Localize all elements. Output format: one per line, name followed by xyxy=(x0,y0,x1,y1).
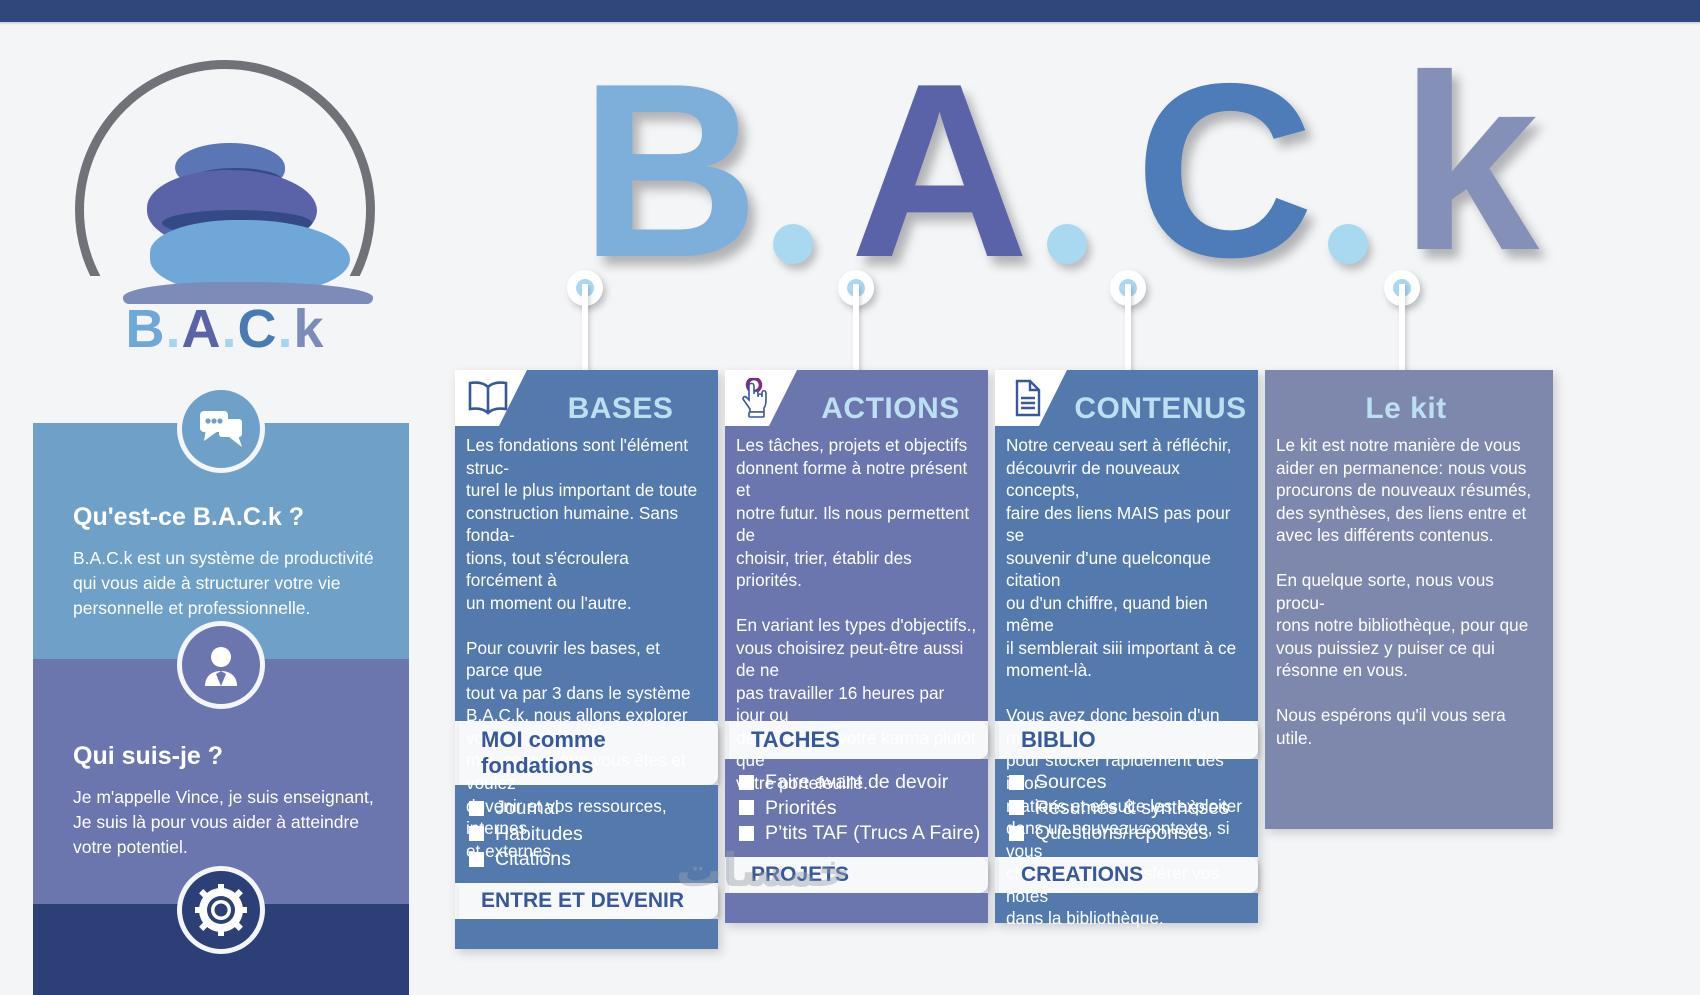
logo-letter-b: B xyxy=(125,299,165,359)
logo-dot-2: . xyxy=(221,299,237,359)
list-item[interactable]: Priorités xyxy=(739,796,988,821)
left-sidebar: B.A.C.k Qu'est-ce B.A.C.k ? B.A.C.k est … xyxy=(0,25,452,970)
list-item[interactable]: Sources xyxy=(1009,770,1258,795)
sidebar-card-settings xyxy=(33,904,409,995)
logo-letter-a: A xyxy=(181,299,221,359)
logo-dot-3: . xyxy=(277,299,293,359)
hero-letter-b: B xyxy=(580,46,759,294)
hero-dot-2 xyxy=(1047,224,1087,264)
column-header-actions: ACTIONS xyxy=(725,370,988,426)
checkbox-icon[interactable] xyxy=(469,826,484,841)
column-header-bases: BASES xyxy=(455,370,718,426)
column-actions-footer xyxy=(725,893,988,923)
watermark: خمسات xyxy=(676,843,850,897)
logo-dot-1: . xyxy=(165,299,181,359)
list-item[interactable]: P’tits TAF (Trucs A Faire) xyxy=(739,821,988,846)
column-title-kit: Le kit xyxy=(1265,370,1547,430)
column-body-bases: Les fondations sont l'élément struc- tur… xyxy=(455,426,718,721)
hero-wordmark: B A C k xyxy=(560,28,1560,278)
column-title-contenus: CONTENUS xyxy=(1069,370,1252,430)
gear-icon xyxy=(177,866,265,954)
list-item-label: Questions/réponses xyxy=(1035,821,1208,846)
column-header-contenus: CONTENUS xyxy=(995,370,1258,426)
logo-letter-k: k xyxy=(294,299,325,359)
list-item-label: Habitudes xyxy=(495,822,583,847)
column-contenus[interactable]: CONTENUS Notre cerveau sert à réfléchir,… xyxy=(995,370,1258,923)
logo-letter-c: C xyxy=(237,299,277,359)
document-icon xyxy=(1007,378,1049,418)
list-item-label: Sources xyxy=(1035,770,1107,795)
list-item[interactable]: Résumés & synthèses xyxy=(1009,796,1258,821)
brand-logo: B.A.C.k xyxy=(65,60,385,360)
hero-letter-k: k xyxy=(1400,38,1539,288)
top-accent-bar xyxy=(0,0,1700,22)
column-body-actions: Les tâches, projets et objectifs donnent… xyxy=(725,426,988,721)
list-item[interactable]: Faire avant de devoir xyxy=(739,770,988,795)
column-bases-footer xyxy=(455,919,718,949)
checkbox-icon[interactable] xyxy=(739,800,754,815)
column-title-bases: BASES xyxy=(529,370,712,430)
list-item-label: Faire avant de devoir xyxy=(765,770,948,795)
checkbox-icon[interactable] xyxy=(739,826,754,841)
column-body-kit: Le kit est notre manière de vous aider e… xyxy=(1265,426,1553,829)
column-title-actions: ACTIONS xyxy=(799,370,982,430)
checkbox-icon[interactable] xyxy=(1009,775,1024,790)
list-item-label: Résumés & synthèses xyxy=(1035,796,1229,821)
hero-dot-1 xyxy=(773,224,813,264)
column-kit[interactable]: Le kit Le kit est notre manière de vous … xyxy=(1265,370,1553,829)
hero-letter-a: A xyxy=(850,46,1029,294)
checkbox-icon[interactable] xyxy=(739,775,754,790)
checklist-contenus-1: Sources Résumés & synthèses Questions/ré… xyxy=(995,759,1258,857)
list-item-label: Priorités xyxy=(765,796,837,821)
hero-letter-c: C xyxy=(1135,46,1314,294)
sidebar-body-1: B.A.C.k est un système de productivité q… xyxy=(73,546,383,621)
column-header-kit: Le kit xyxy=(1265,370,1553,426)
hero-dot-3 xyxy=(1328,224,1368,264)
checkbox-icon[interactable] xyxy=(469,852,484,867)
list-item-label: Journal xyxy=(495,796,559,821)
logo-wordmark: B.A.C.k xyxy=(65,298,385,360)
list-item-label: P’tits TAF (Trucs A Faire) xyxy=(765,821,980,846)
checkbox-icon[interactable] xyxy=(1009,826,1024,841)
pointing-hand-icon xyxy=(737,378,779,418)
chat-bubbles-icon xyxy=(177,385,265,473)
checkbox-icon[interactable] xyxy=(1009,800,1024,815)
open-book-icon xyxy=(467,378,509,418)
person-icon xyxy=(177,621,265,709)
column-actions[interactable]: ACTIONS Les tâches, projets et objectifs… xyxy=(725,370,988,923)
sidebar-heading-2: Qui suis-je ? xyxy=(73,742,223,771)
column-body-contenus: Notre cerveau sert à réfléchir, découvri… xyxy=(995,426,1258,721)
sidebar-heading-1: Qu'est-ce B.A.C.k ? xyxy=(73,503,304,532)
sidebar-body-2: Je m'appelle Vince, je suis enseignant, … xyxy=(73,785,383,860)
checkbox-icon[interactable] xyxy=(469,801,484,816)
list-item-label: Citations xyxy=(495,847,571,872)
